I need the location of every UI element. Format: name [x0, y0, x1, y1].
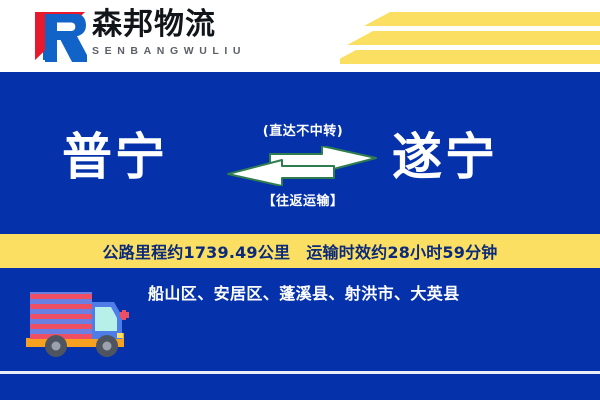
route-note-direct: (直达不中转) — [248, 120, 358, 139]
destination-city: 遂宁 — [392, 128, 498, 186]
coverage-areas-text: 船山区、安居区、蓬溪县、射洪市、大英县 — [148, 280, 548, 304]
brand-name-cn: 森邦物流 — [92, 8, 332, 42]
banner-header: 森邦物流 SENBANGWULIU — [0, 0, 600, 72]
delivery-truck-icon — [22, 286, 134, 358]
bidirectional-arrow-icon — [226, 146, 378, 186]
route-info-text: 公路里程约1739.49公里 运输时效约28小时59分钟 — [102, 239, 497, 263]
route-info-bar: 公路里程约1739.49公里 运输时效约28小时59分钟 — [0, 234, 600, 268]
footer-divider — [0, 371, 600, 374]
senbang-r-logo-icon — [33, 10, 87, 62]
brand-block: 森邦物流 SENBANGWULIU — [92, 8, 332, 58]
logistics-route-banner: 森邦物流 SENBANGWULIU 普宁 遂宁 (直达不中转) 【往返运输】 公… — [0, 0, 600, 400]
route-note-roundtrip: 【往返运输】 — [248, 190, 358, 209]
brand-name-en: SENBANGWULIU — [92, 44, 332, 58]
origin-city: 普宁 — [62, 128, 168, 186]
yellow-speed-stripes-icon — [340, 0, 600, 72]
